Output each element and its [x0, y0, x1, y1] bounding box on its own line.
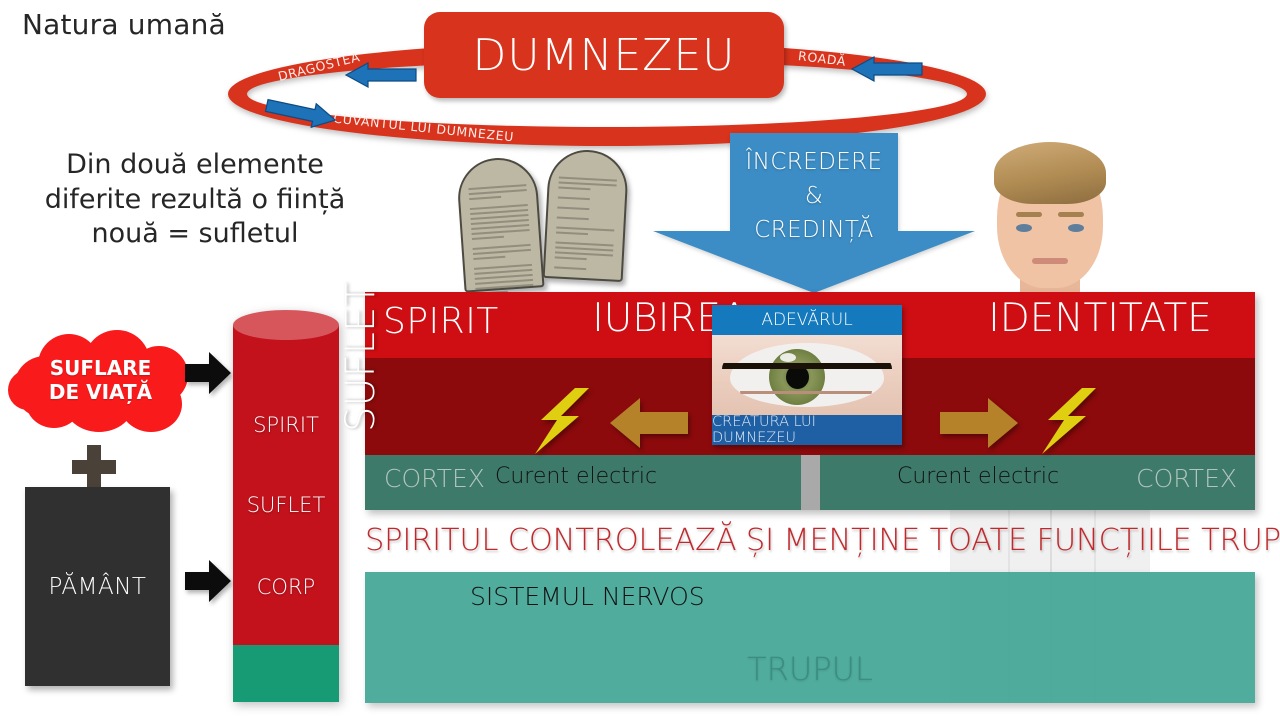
dumnezeu-box: DUMNEZEU [424, 12, 784, 98]
incredere-credinta-arrow: ÎNCREDERE & CREDINȚĂ [653, 133, 975, 293]
tablet-right [543, 148, 630, 282]
blue-arrow-left-icon [342, 62, 418, 88]
slide-canvas: Natura umană Din două elemente diferite … [0, 0, 1280, 720]
eyebox-top-bar: ADEVĂRUL [712, 305, 902, 335]
tablet-left [455, 155, 544, 292]
cylinder-top-ellipse [233, 310, 339, 340]
man-eye-right [1068, 224, 1084, 232]
eyebox-bottom-bar: CREATURA LUI DUMNEZEU [712, 415, 902, 445]
man-mouth [1032, 258, 1068, 264]
spirit-suflet-corp-cylinder: SPIRIT SUFLET CORP [233, 310, 339, 702]
adevarul-eye-box: ADEVĂRUL CREATURA LUI DUMNEZEU [712, 305, 902, 445]
eyebox-bottom-label: CREATURA LUI DUMNEZEU [712, 414, 902, 446]
incredere-line-1: ÎNCREDERE [653, 145, 975, 179]
panel-label-cortex-left: CORTEX [384, 464, 485, 493]
tablet-text-lines [554, 177, 617, 275]
panel-label-suflet-vertical: SUFLET [338, 282, 384, 432]
panel-label-current-right: Curent electric [897, 464, 1059, 489]
cylinder-label-corp: CORP [233, 575, 339, 599]
ten-commandments-tablets-image [452, 142, 642, 292]
suflare-de-viata-cloud: SUFLARE DE VIAȚĂ [8, 330, 193, 435]
eyebrow-right [1058, 212, 1084, 217]
panel-grey-divider [801, 455, 820, 510]
trupul-panel: SISTEMUL NERVOS TRUPUL [365, 572, 1255, 703]
eyebrow-left [1016, 212, 1042, 217]
cloud-line-2: DE VIAȚĂ [8, 380, 193, 404]
lightning-bolt-left-icon [535, 388, 589, 454]
eye-lower-lid [740, 391, 872, 412]
eye-image [712, 335, 902, 415]
panel-label-identitate: IDENTITATE [935, 296, 1265, 341]
incredere-line-3: CREDINȚĂ [653, 213, 975, 247]
cloud-text: SUFLARE DE VIAȚĂ [8, 356, 193, 404]
headline-spiritul-controleaza: SPIRITUL CONTROLEAZĂ ȘI MENȚINE TOATE FU… [365, 523, 1260, 558]
eye-lashes [722, 337, 892, 369]
man-hair [994, 142, 1106, 204]
cloud-line-1: SUFLARE [8, 356, 193, 380]
panel-label-spirit: SPIRIT [383, 301, 499, 342]
plus-symbol-icon [72, 445, 116, 489]
subtitle-paragraph: Din două elemente diferite rezultă o fii… [40, 148, 350, 252]
label-trupul: TRUPUL [365, 650, 1255, 688]
cylinder-label-suflet: SUFLET [233, 493, 339, 517]
gold-arrow-left-icon [610, 398, 688, 448]
black-arrow-bottom-icon [185, 560, 231, 602]
panel-label-current-left: Curent electric [495, 464, 657, 489]
page-title: Natura umană [22, 8, 226, 41]
lightning-bolt-right-icon [1042, 388, 1096, 454]
eyebox-top-label: ADEVĂRUL [761, 310, 852, 330]
dumnezeu-label: DUMNEZEU [473, 30, 736, 81]
pamant-block: PĂMÂNT [25, 487, 170, 686]
label-sistemul-nervos: SISTEMUL NERVOS [470, 582, 705, 611]
cylinder-label-spirit: SPIRIT [233, 413, 339, 437]
blue-arrow-right-icon [848, 56, 924, 82]
man-eye-left [1016, 224, 1032, 232]
incredere-line-2: & [653, 179, 975, 213]
tablet-text-lines [468, 184, 534, 298]
gold-arrow-right-icon [940, 398, 1018, 448]
pamant-label: PĂMÂNT [49, 574, 147, 600]
panel-label-cortex-right: CORTEX [1136, 464, 1237, 493]
incredere-text: ÎNCREDERE & CREDINȚĂ [653, 145, 975, 247]
